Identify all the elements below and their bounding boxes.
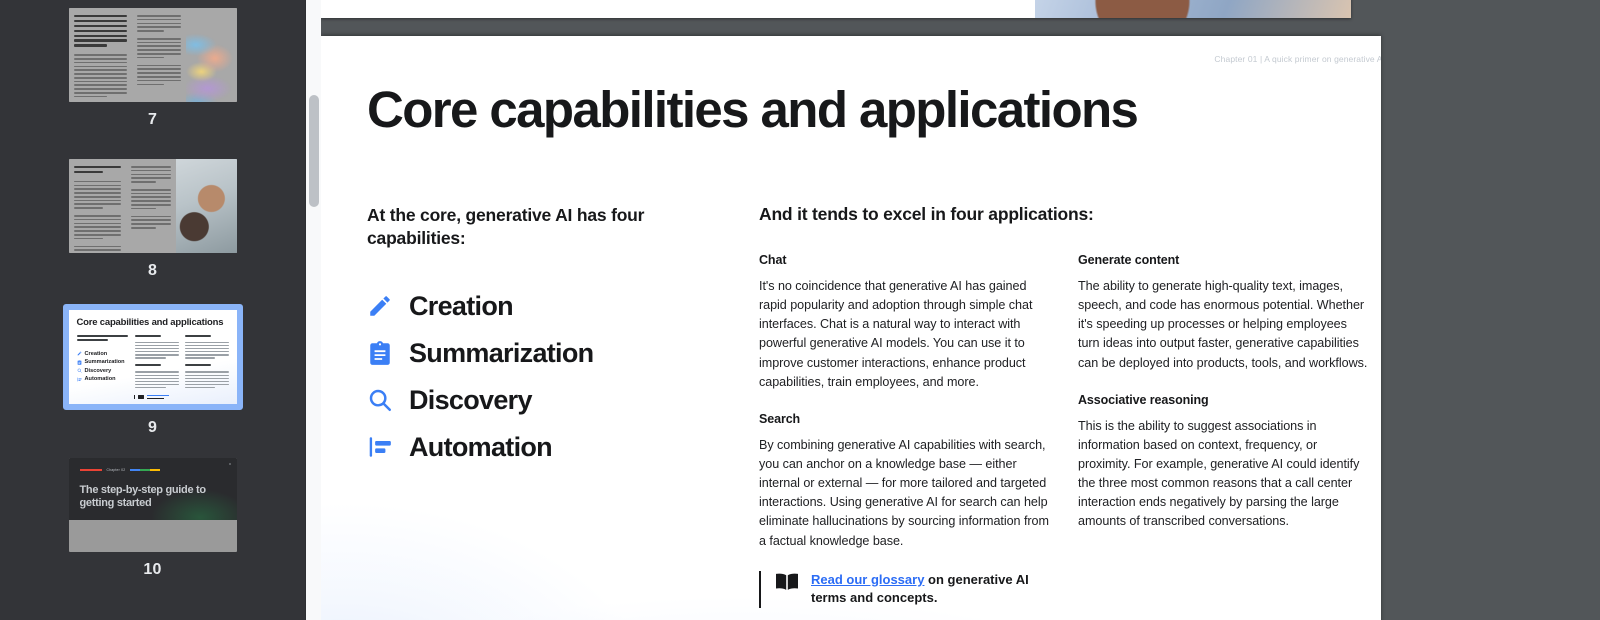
- thumbnail-item-7[interactable]: 7: [0, 8, 305, 129]
- thumbnail-preview-8: [69, 159, 237, 253]
- capability-label: Summarization: [409, 338, 593, 369]
- thumbnail-preview-title: Core capabilities and applications: [77, 317, 229, 328]
- application-heading-associative-reasoning: Associative reasoning: [1078, 393, 1371, 407]
- thumbnail-capability: Summarization: [77, 359, 129, 365]
- thumbnail-item-10[interactable]: Chapter 02 The step-by-step guide to get…: [0, 458, 305, 579]
- application-heading-generate-content: Generate content: [1078, 253, 1371, 267]
- capability-summarization: Summarization: [367, 338, 731, 369]
- thumbnail-capability-label: Discovery: [85, 368, 112, 374]
- capability-creation: Creation: [367, 291, 731, 322]
- page-dot-icon: [229, 463, 231, 465]
- previous-page-photo: [1035, 0, 1351, 18]
- applications-lede: And it tends to excel in four applicatio…: [759, 204, 1371, 225]
- thumbnail-item-9[interactable]: Core capabilities and applications Creat…: [0, 304, 305, 437]
- applications-subcolumn-right: Generate content The ability to generate…: [1078, 253, 1371, 608]
- pdf-page-9: Chapter 01 | A quick primer on generativ…: [321, 36, 1381, 620]
- thumbnail-cover-eyebrow: Chapter 02: [107, 468, 126, 472]
- thumbnail-page-number: 9: [148, 419, 157, 437]
- capabilities-lede: At the core, generative AI has four capa…: [367, 204, 731, 251]
- pencil-icon: [77, 351, 82, 356]
- thumbnail-frame-selected[interactable]: Core capabilities and applications Creat…: [63, 304, 243, 410]
- application-body-search: By combining generative AI capabilities …: [759, 436, 1052, 551]
- thumbnail-page-number: 10: [143, 561, 161, 579]
- book-icon: [775, 571, 799, 591]
- book-icon: [138, 395, 144, 400]
- glossary-text: Read our glossary on generative AI terms…: [811, 571, 1052, 608]
- clipboard-icon: [367, 340, 393, 366]
- search-icon: [367, 387, 393, 413]
- search-icon: [77, 368, 82, 373]
- page-title: Core capabilities and applications: [367, 84, 1137, 135]
- capability-label: Creation: [409, 291, 513, 322]
- format-align-icon: [367, 434, 393, 460]
- thumbnail-preview-7: [69, 8, 237, 102]
- page-columns: At the core, generative AI has four capa…: [367, 204, 1371, 608]
- thumbnail-frame[interactable]: [69, 159, 237, 253]
- thumbnail-preview-9: Core capabilities and applications Creat…: [69, 310, 237, 406]
- sidebar-scrollbar-thumb[interactable]: [309, 95, 319, 207]
- thumbnail-page-number: 7: [148, 111, 157, 129]
- applications-subcolumn-left: Chat It's no coincidence that generative…: [759, 253, 1052, 608]
- pdf-viewer-window: 7: [0, 0, 1600, 620]
- application-heading-chat: Chat: [759, 253, 1052, 267]
- capability-label: Automation: [409, 432, 552, 463]
- sidebar-scrollbar-track[interactable]: [305, 0, 321, 620]
- google-color-bar: [130, 469, 160, 471]
- capability-automation: Automation: [367, 432, 731, 463]
- thumbnail-item-8[interactable]: 8: [0, 159, 305, 280]
- thumbnail-page-number: 8: [148, 262, 157, 280]
- capabilities-column: At the core, generative AI has four capa…: [367, 204, 759, 608]
- thumbnail-capability: Creation: [77, 351, 129, 357]
- application-body-generate-content: The ability to generate high-quality tex…: [1078, 277, 1371, 373]
- pencil-icon: [367, 293, 393, 319]
- applications-grid: Chat It's no coincidence that generative…: [759, 253, 1371, 608]
- thumbnail-cover-title: The step-by-step guide to getting starte…: [80, 484, 226, 510]
- format-align-icon: [77, 377, 82, 382]
- thumbnail-capability: Discovery: [77, 368, 129, 374]
- application-heading-search: Search: [759, 412, 1052, 426]
- application-body-associative-reasoning: This is the ability to suggest associati…: [1078, 417, 1371, 532]
- thumbnail-capability-label: Automation: [85, 376, 116, 382]
- clipboard-icon: [77, 360, 82, 365]
- red-rule: [80, 469, 102, 471]
- glossary-callout[interactable]: Read our glossary on generative AI terms…: [759, 571, 1052, 608]
- thumbnail-sidebar[interactable]: 7: [0, 0, 305, 620]
- thumbnail-glossary-note: [134, 395, 195, 400]
- pdf-page-viewport[interactable]: Google Cloud Chapter 01 | A quick primer…: [321, 0, 1600, 620]
- thumbnail-capability-label: Creation: [85, 351, 108, 357]
- page-chapter-header: Chapter 01 | A quick primer on generativ…: [1214, 54, 1381, 64]
- thumbnail-capability-label: Summarization: [85, 359, 125, 365]
- glossary-link[interactable]: Read our glossary: [811, 572, 924, 587]
- thumbnail-frame[interactable]: Chapter 02 The step-by-step guide to get…: [69, 458, 237, 552]
- thumbnail-frame[interactable]: [69, 8, 237, 102]
- thumbnail-capability: Automation: [77, 376, 129, 382]
- capability-discovery: Discovery: [367, 385, 731, 416]
- thumbnail-preview-10: Chapter 02 The step-by-step guide to get…: [69, 458, 237, 520]
- capabilities-list: Creation Summarization D: [367, 291, 731, 463]
- capability-label: Discovery: [409, 385, 532, 416]
- previous-page-sliver: Google Cloud: [321, 0, 1351, 18]
- applications-column: And it tends to excel in four applicatio…: [759, 204, 1371, 608]
- application-body-chat: It's no coincidence that generative AI h…: [759, 277, 1052, 392]
